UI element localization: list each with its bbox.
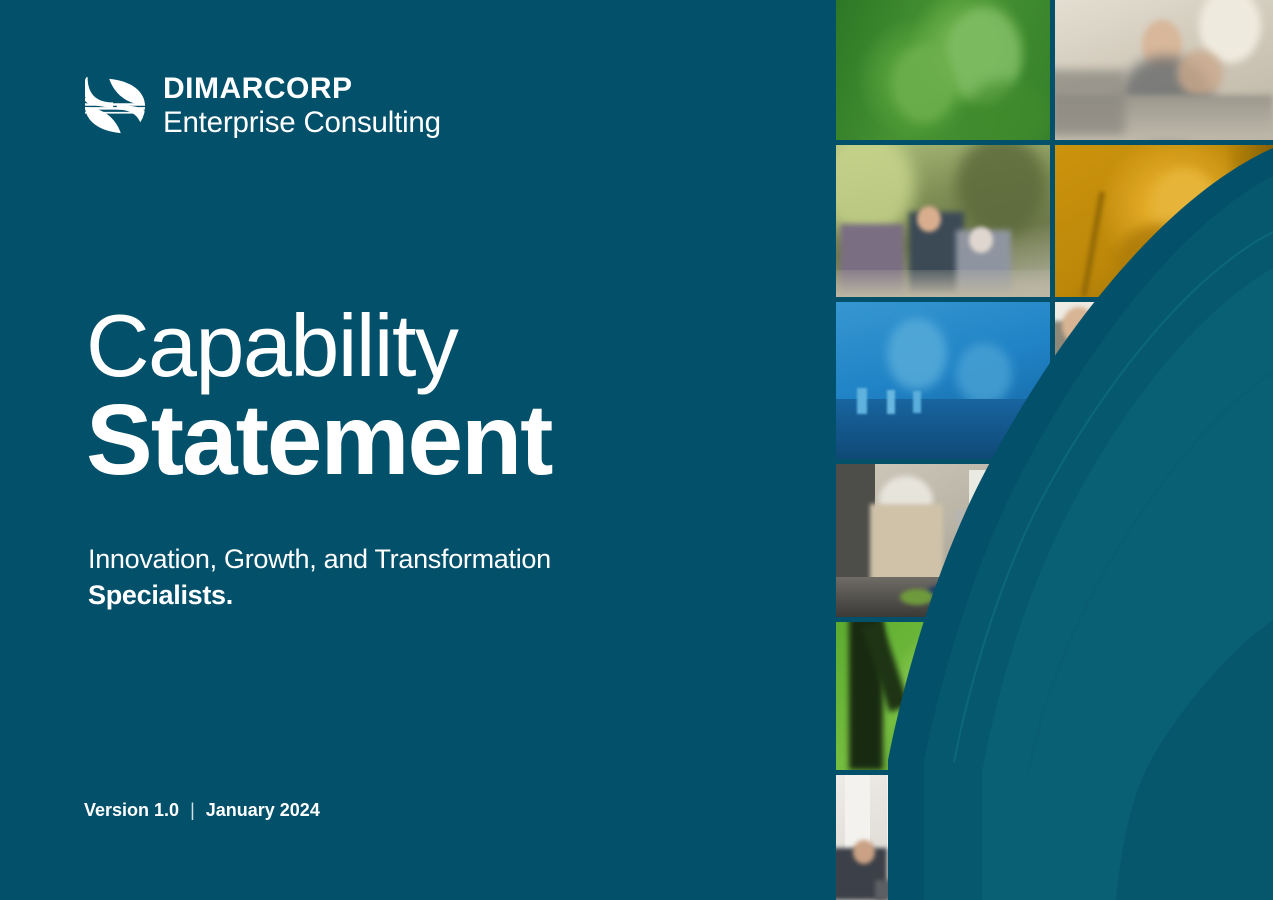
photo-tile-7 — [836, 464, 1050, 617]
page-title-line-bold: Statement — [86, 388, 806, 493]
photo-tile-5 — [836, 302, 1050, 459]
photo-tile-6: TO DO IN PROGRESS — [1055, 302, 1273, 459]
photo-tile-1 — [836, 0, 1050, 140]
photo-tile-10 — [1055, 622, 1273, 770]
dimarcorp-swoosh-circle-logo-icon — [84, 74, 146, 138]
photo-tile-8 — [1055, 464, 1273, 617]
version-label: Version 1.0 — [84, 800, 179, 821]
document-version-footer: Version 1.0 | January 2024 — [84, 800, 320, 821]
kanban-column-inprogress-label: IN PROGRESS — [1201, 322, 1254, 329]
cover-page: TO DO IN PROGRESS — [0, 0, 1273, 900]
page-title: Capability Statement — [86, 300, 806, 493]
photo-tile-2 — [1055, 0, 1273, 140]
brand-wordmark: DIMARCORP Enterprise Consulting — [163, 74, 441, 138]
date-label: January 2024 — [206, 800, 320, 821]
brand-name-secondary: Enterprise Consulting — [163, 108, 441, 138]
photo-tile-9 — [836, 622, 1050, 770]
photo-tile-11 — [836, 775, 1050, 900]
left-content-panel: DIMARCORP Enterprise Consulting Capabili… — [0, 0, 836, 900]
footer-separator: | — [190, 800, 195, 821]
brand-name-primary: DIMARCORP — [163, 74, 441, 104]
photo-grid: TO DO IN PROGRESS — [836, 0, 1273, 900]
photo-tile-3 — [836, 145, 1050, 297]
page-subtitle: Innovation, Growth, and Transformation S… — [88, 541, 788, 614]
brand-logo-lockup[interactable]: DIMARCORP Enterprise Consulting — [84, 74, 441, 138]
page-subtitle-line-1: Innovation, Growth, and Transformation — [88, 541, 788, 577]
photo-tile-4 — [1055, 145, 1273, 297]
kanban-column-todo-label: TO DO — [1160, 322, 1184, 329]
page-subtitle-line-2: Specialists. — [88, 577, 788, 613]
page-title-line-light: Capability — [86, 300, 806, 392]
